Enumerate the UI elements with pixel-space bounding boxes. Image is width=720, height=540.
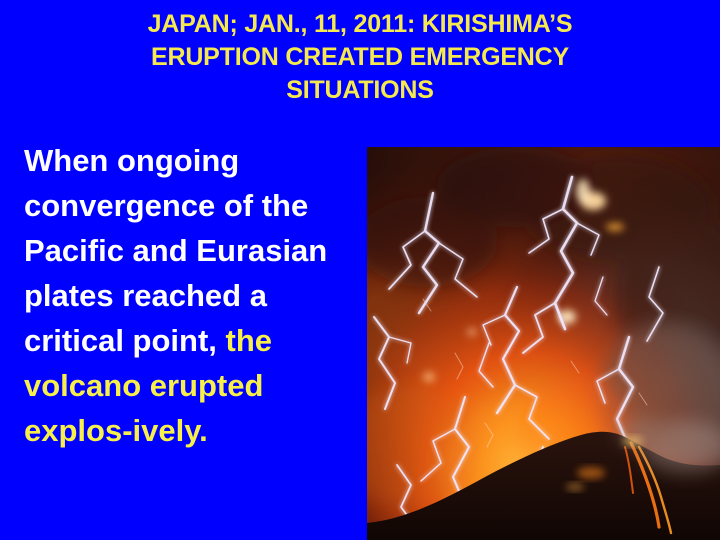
slide-body-text: When ongoing convergence of the Pacific … [24, 138, 364, 453]
body-text-segment-white: When ongoing convergence of the Pacific … [24, 143, 327, 358]
presentation-slide: JAPAN; JAN., 11, 2011: KIRISHIMA’S ERUPT… [0, 0, 720, 540]
volcanic-eruption-lightning-photo [367, 147, 720, 540]
eruption-photo-graphic [367, 147, 720, 540]
slide-title: JAPAN; JAN., 11, 2011: KIRISHIMA’S ERUPT… [40, 8, 680, 107]
